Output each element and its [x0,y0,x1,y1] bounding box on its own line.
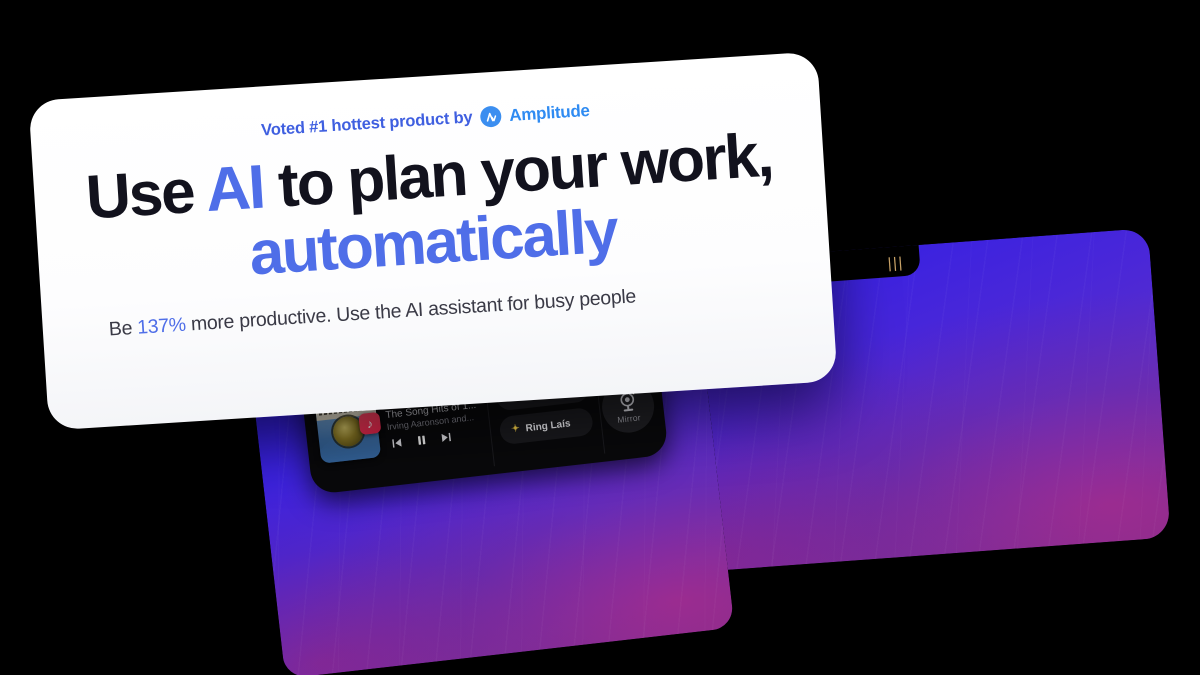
pause-icon[interactable] [415,434,428,447]
apple-music-icon: ♪ [358,412,381,435]
action-ring-lais-label: Ring Laís [525,418,571,434]
eyebrow-text: Voted #1 hottest product by [261,108,473,140]
page-title: Use AI to plan your work, automatically [73,123,790,298]
subtext-stat: 137% [137,314,187,339]
headline-ai: AI [204,153,266,225]
sparkle-icon: ✦ [511,424,520,435]
hero-card: Voted #1 hottest product by Amplitude Us… [28,52,837,431]
subtext-part-2: more productive. Use the AI assistant fo… [185,285,636,335]
transport-controls [388,428,481,450]
skip-forward-icon[interactable] [440,431,453,444]
equalizer-bars-icon[interactable]: ||| [887,255,904,271]
screenshot-stage: ||| Nook Tra [0,0,1200,675]
headline-part-1: Use [84,156,208,232]
subtext-part-1: Be [108,317,138,341]
amplitude-brand-name: Amplitude [509,100,591,125]
mirror-label: Mirror [617,412,641,425]
skip-back-icon[interactable] [390,436,403,449]
amplitude-logo-icon [480,105,502,127]
action-ring-lais[interactable]: ✦ Ring Laís [499,407,594,445]
